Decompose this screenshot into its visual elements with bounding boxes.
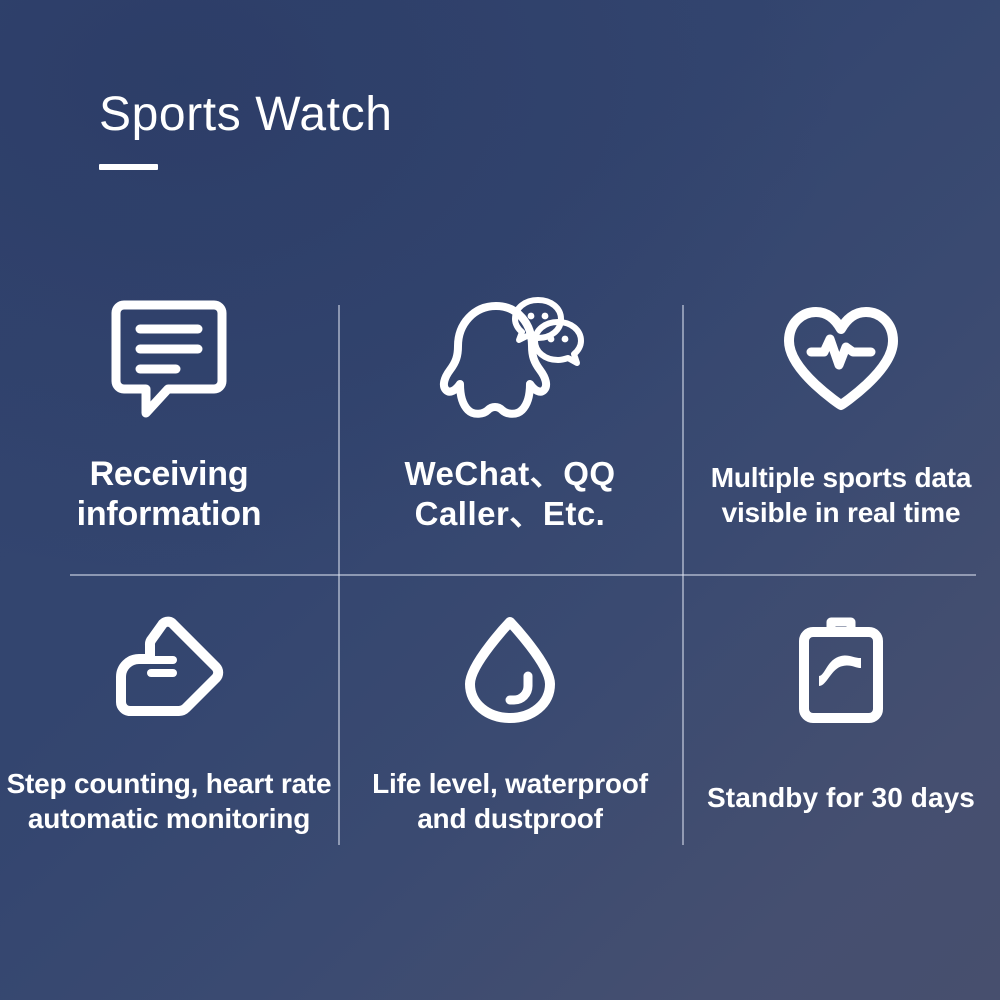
feature-cell-waterproof: Life level, waterproof and dustproof bbox=[338, 574, 682, 868]
battery-icon bbox=[795, 600, 887, 740]
qq-penguin-wechat-icon bbox=[434, 290, 586, 430]
feature-caption: Multiple sports data visible in real tim… bbox=[705, 460, 977, 531]
feature-caption: Step counting, heart rate automatic moni… bbox=[1, 766, 338, 837]
feature-cell-standby: Standby for 30 days bbox=[682, 574, 1000, 868]
feature-cell-wechat-qq: WeChat、QQ Caller、Etc. bbox=[338, 268, 682, 574]
feature-caption: Life level, waterproof and dustproof bbox=[366, 766, 654, 837]
feature-caption: Receiving information bbox=[71, 454, 268, 534]
title-underline-accent bbox=[99, 164, 158, 170]
page-title: Sports Watch bbox=[99, 88, 393, 142]
feature-caption: Standby for 30 days bbox=[701, 780, 981, 816]
header: Sports Watch bbox=[99, 88, 393, 170]
feature-grid: Receiving information WeChat、QQ Caller、E… bbox=[0, 268, 1000, 868]
heart-pulse-icon bbox=[781, 290, 901, 430]
speech-bubble-icon bbox=[110, 290, 228, 430]
sneaker-shoe-icon bbox=[110, 600, 228, 740]
feature-cell-receiving-information: Receiving information bbox=[0, 268, 338, 574]
feature-cell-step-counting: Step counting, heart rate automatic moni… bbox=[0, 574, 338, 868]
poster-canvas: Sports Watch Receiving information bbox=[0, 0, 1000, 1000]
water-drop-icon bbox=[462, 600, 558, 740]
feature-cell-sports-data: Multiple sports data visible in real tim… bbox=[682, 268, 1000, 574]
feature-caption: WeChat、QQ Caller、Etc. bbox=[398, 454, 621, 533]
